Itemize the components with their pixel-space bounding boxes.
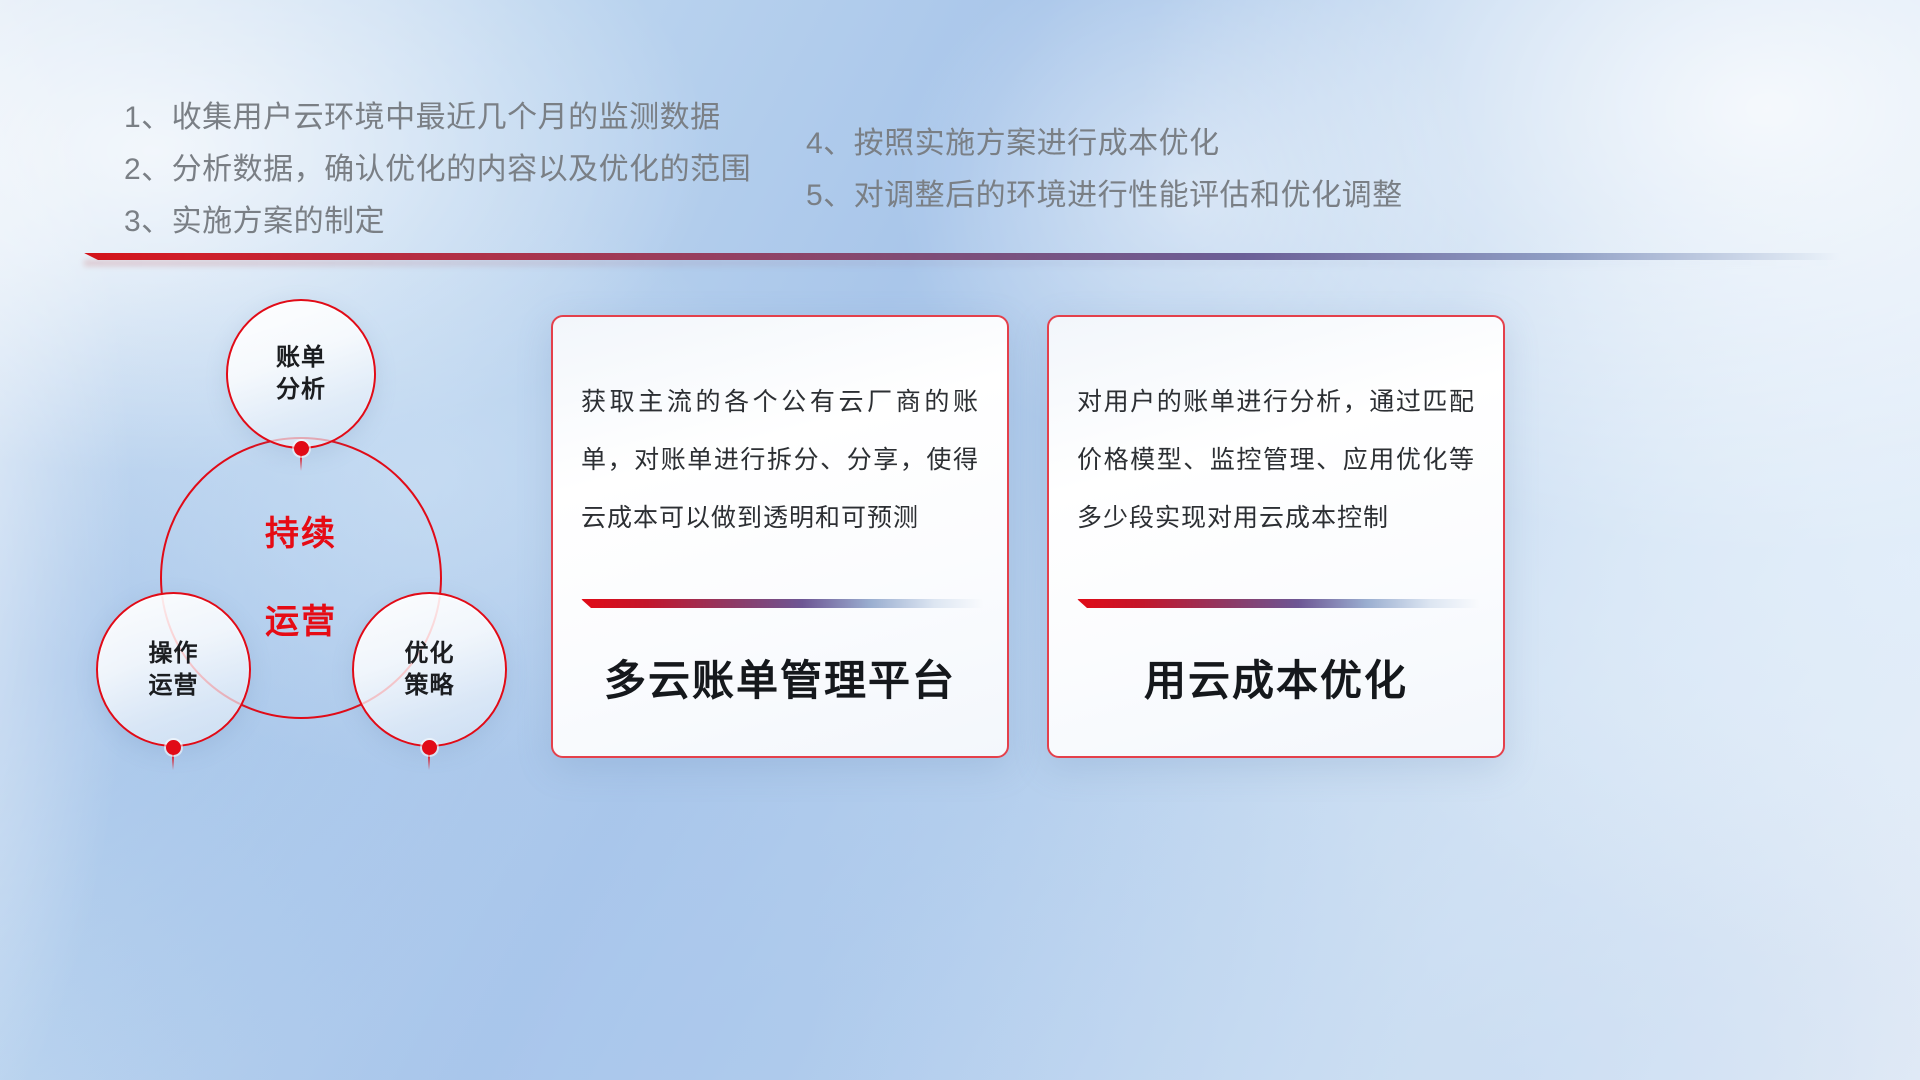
divider-shadow: [84, 260, 1840, 266]
card-title: 用云成本优化: [1049, 647, 1503, 708]
venn-node-label-line2: 分析: [276, 376, 326, 403]
venn-node-operations[interactable]: 操作 运营: [96, 592, 251, 747]
step-item-2: 2、分析数据，确认优化的内容以及优化的范围: [124, 144, 884, 196]
card-body-text: 获取主流的各个公有云厂商的账单，对账单进行拆分、分享，使得云成本可以做到透明和可…: [581, 373, 979, 547]
venn-node-label: 优化 策略: [354, 638, 505, 702]
venn-node-dot: [422, 740, 437, 755]
venn-node-optimization-strategy[interactable]: 优化 策略: [352, 592, 507, 747]
card-divider: [581, 599, 983, 608]
venn-node-label-line2: 运营: [149, 672, 199, 699]
venn-connector-tail: [300, 455, 302, 471]
card-divider: [1077, 599, 1479, 608]
venn-node-label-line1: 操作: [149, 640, 199, 667]
venn-center-label-line1: 持续: [265, 512, 337, 556]
steps-left-column: 1、收集用户云环境中最近几个月的监测数据 2、分析数据，确认优化的内容以及优化的…: [124, 92, 884, 248]
step-item-5: 5、对调整后的环境进行性能评估和优化调整: [806, 170, 1626, 222]
venn-node-label: 账单 分析: [228, 342, 374, 406]
step-item-4: 4、按照实施方案进行成本优化: [806, 118, 1626, 170]
step-item-3: 3、实施方案的制定: [124, 196, 884, 248]
venn-node-label: 操作 运营: [98, 638, 249, 702]
venn-center-label-line2: 运营: [265, 600, 337, 644]
venn-diagram: 持续 运营 账单 分析 操作 运营 优化 策略: [86, 295, 556, 765]
card-title: 多云账单管理平台: [553, 647, 1007, 708]
venn-node-dot: [166, 740, 181, 755]
venn-connector-tail: [172, 754, 174, 770]
step-item-1: 1、收集用户云环境中最近几个月的监测数据: [124, 92, 884, 144]
venn-connector-tail: [428, 754, 430, 770]
steps-right-column: 4、按照实施方案进行成本优化 5、对调整后的环境进行性能评估和优化调整: [806, 118, 1626, 222]
venn-node-bill-analysis[interactable]: 账单 分析: [226, 299, 376, 449]
feature-card-multicloud-billing[interactable]: 获取主流的各个公有云厂商的账单，对账单进行拆分、分享，使得云成本可以做到透明和可…: [551, 315, 1009, 758]
venn-node-label-line1: 账单: [276, 344, 326, 371]
venn-node-dot: [294, 441, 309, 456]
horizontal-divider-rule: [84, 253, 1840, 260]
card-body-text: 对用户的账单进行分析，通过匹配价格模型、监控管理、应用优化等多少段实现对用云成本…: [1077, 373, 1475, 547]
feature-card-cloud-cost-optimization[interactable]: 对用户的账单进行分析，通过匹配价格模型、监控管理、应用优化等多少段实现对用云成本…: [1047, 315, 1505, 758]
venn-node-label-line1: 优化: [405, 640, 455, 667]
venn-node-label-line2: 策略: [405, 672, 455, 699]
